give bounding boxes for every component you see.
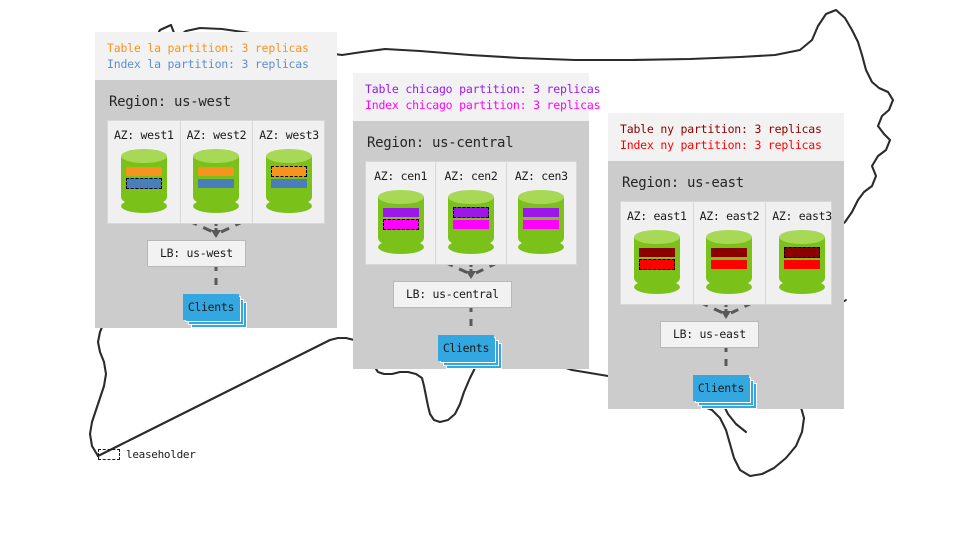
cylinder-east2 xyxy=(700,230,760,294)
replica-bar-table xyxy=(639,248,675,257)
replica-bar-table xyxy=(126,167,162,176)
cylinder-top xyxy=(448,190,494,204)
cylinder-cen1 xyxy=(372,190,429,254)
replica-bar-table xyxy=(711,248,747,257)
az-cell-cen3[interactable]: AZ: cen3 xyxy=(506,162,576,264)
cylinder-cen2 xyxy=(442,190,499,254)
replica-bar-index-leaseholder xyxy=(383,219,419,230)
legend-band-us-east: Table ny partition: 3 replicas Index ny … xyxy=(608,113,844,161)
az-label-cen1: AZ: cen1 xyxy=(372,169,429,183)
az-label-east1: AZ: east1 xyxy=(627,209,687,223)
replica-bar-table-leaseholder xyxy=(453,207,489,218)
legend-line-table-chicago: Table chicago partition: 3 replicas xyxy=(365,82,577,98)
replica-bars-cen1 xyxy=(383,208,419,232)
cylinder-east3 xyxy=(772,230,832,294)
cylinder-west2 xyxy=(187,149,247,213)
leaseholder-legend-label: leaseholder xyxy=(126,448,196,461)
legend-line-index-ny: Index ny partition: 3 replicas xyxy=(620,138,832,154)
cylinder-top xyxy=(266,149,312,163)
az-cell-east1[interactable]: AZ: east1 xyxy=(621,202,693,304)
clients-box-us-west[interactable]: Clients xyxy=(183,294,247,328)
legend-line-table-ny: Table ny partition: 3 replicas xyxy=(620,122,832,138)
az-label-west3: AZ: west3 xyxy=(259,128,319,142)
az-cell-west1[interactable]: AZ: west1 xyxy=(108,121,180,223)
legend-band-us-west: Table la partition: 3 replicas Index la … xyxy=(95,32,337,80)
region-title-us-east: Region: us-east xyxy=(622,175,832,191)
replica-bar-index xyxy=(198,179,234,188)
clients-label: Clients xyxy=(438,335,494,361)
replica-bars-east2 xyxy=(711,248,747,272)
replica-bar-index xyxy=(271,179,307,188)
replica-bar-table xyxy=(383,208,419,217)
cylinder-west1 xyxy=(114,149,174,213)
legend-line-index-chicago: Index chicago partition: 3 replicas xyxy=(365,98,577,114)
az-label-east3: AZ: east3 xyxy=(772,209,832,223)
region-title-us-west: Region: us-west xyxy=(109,94,325,110)
az-row-us-east: AZ: east1 AZ: xyxy=(620,201,832,305)
az-cell-west3[interactable]: AZ: west3 xyxy=(252,121,325,223)
region-cluster-us-east: Table ny partition: 3 replicas Index ny … xyxy=(608,113,844,409)
az-cell-west2[interactable]: AZ: west2 xyxy=(180,121,253,223)
clients-label: Clients xyxy=(183,294,239,320)
replica-bars-cen3 xyxy=(523,208,559,232)
lb-box-us-central[interactable]: LB: us-central xyxy=(393,281,512,308)
region-title-us-central: Region: us-central xyxy=(367,135,577,151)
az-row-us-west: AZ: west1 AZ: xyxy=(107,120,325,224)
clients-box-us-central[interactable]: Clients xyxy=(438,335,502,369)
replica-bars-cen2 xyxy=(453,208,489,232)
cylinder-top xyxy=(634,230,680,244)
replica-bar-index xyxy=(453,220,489,229)
az-label-west2: AZ: west2 xyxy=(187,128,247,142)
az-label-east2: AZ: east2 xyxy=(700,209,760,223)
replica-bar-table-leaseholder xyxy=(271,166,307,177)
az-row-us-central: AZ: cen1 AZ: c xyxy=(365,161,577,265)
replica-bars-east1 xyxy=(639,248,675,272)
az-label-cen3: AZ: cen3 xyxy=(513,169,570,183)
replica-bar-index-leaseholder xyxy=(639,259,675,270)
replica-bars-west1 xyxy=(126,167,162,191)
legend-line-index-la: Index la partition: 3 replicas xyxy=(107,57,325,73)
replica-bars-west2 xyxy=(198,167,234,191)
cylinder-top xyxy=(779,230,825,244)
az-label-cen2: AZ: cen2 xyxy=(442,169,499,183)
az-cell-cen1[interactable]: AZ: cen1 xyxy=(366,162,435,264)
legend-band-us-central: Table chicago partition: 3 replicas Inde… xyxy=(353,73,589,121)
az-cell-east2[interactable]: AZ: east2 xyxy=(693,202,766,304)
az-cell-cen2[interactable]: AZ: cen2 xyxy=(435,162,505,264)
replica-bar-index xyxy=(711,260,747,269)
cylinder-top xyxy=(121,149,167,163)
cylinder-cen3 xyxy=(513,190,570,254)
cylinder-west3 xyxy=(259,149,319,213)
cylinder-top xyxy=(378,190,424,204)
lb-box-us-east[interactable]: LB: us-east xyxy=(660,321,759,348)
clients-box-us-east[interactable]: Clients xyxy=(693,375,757,409)
dashed-rect-icon xyxy=(98,449,120,460)
replica-bars-east3 xyxy=(784,248,820,272)
lb-box-us-west[interactable]: LB: us-west xyxy=(147,240,246,267)
replica-bar-table-leaseholder xyxy=(784,247,820,258)
clients-label: Clients xyxy=(693,375,749,401)
region-cluster-us-central: Table chicago partition: 3 replicas Inde… xyxy=(353,73,589,369)
replica-bar-table xyxy=(523,208,559,217)
region-panel-us-central: Region: us-central AZ: cen1 xyxy=(353,121,589,369)
replica-bars-west3 xyxy=(271,167,307,191)
az-label-west1: AZ: west1 xyxy=(114,128,174,142)
replica-bar-index xyxy=(784,260,820,269)
replica-bar-table xyxy=(198,167,234,176)
leaseholder-legend: leaseholder xyxy=(98,448,196,461)
region-panel-us-east: Region: us-east AZ: east1 xyxy=(608,161,844,409)
region-panel-us-west: Region: us-west AZ: west1 xyxy=(95,80,337,328)
region-cluster-us-west: Table la partition: 3 replicas Index la … xyxy=(95,32,337,328)
legend-line-table-la: Table la partition: 3 replicas xyxy=(107,41,325,57)
replica-bar-index xyxy=(523,220,559,229)
cylinder-east1 xyxy=(627,230,687,294)
diagram-canvas: Table la partition: 3 replicas Index la … xyxy=(0,0,960,540)
az-cell-east3[interactable]: AZ: east3 xyxy=(765,202,838,304)
replica-bar-index-leaseholder xyxy=(126,178,162,189)
